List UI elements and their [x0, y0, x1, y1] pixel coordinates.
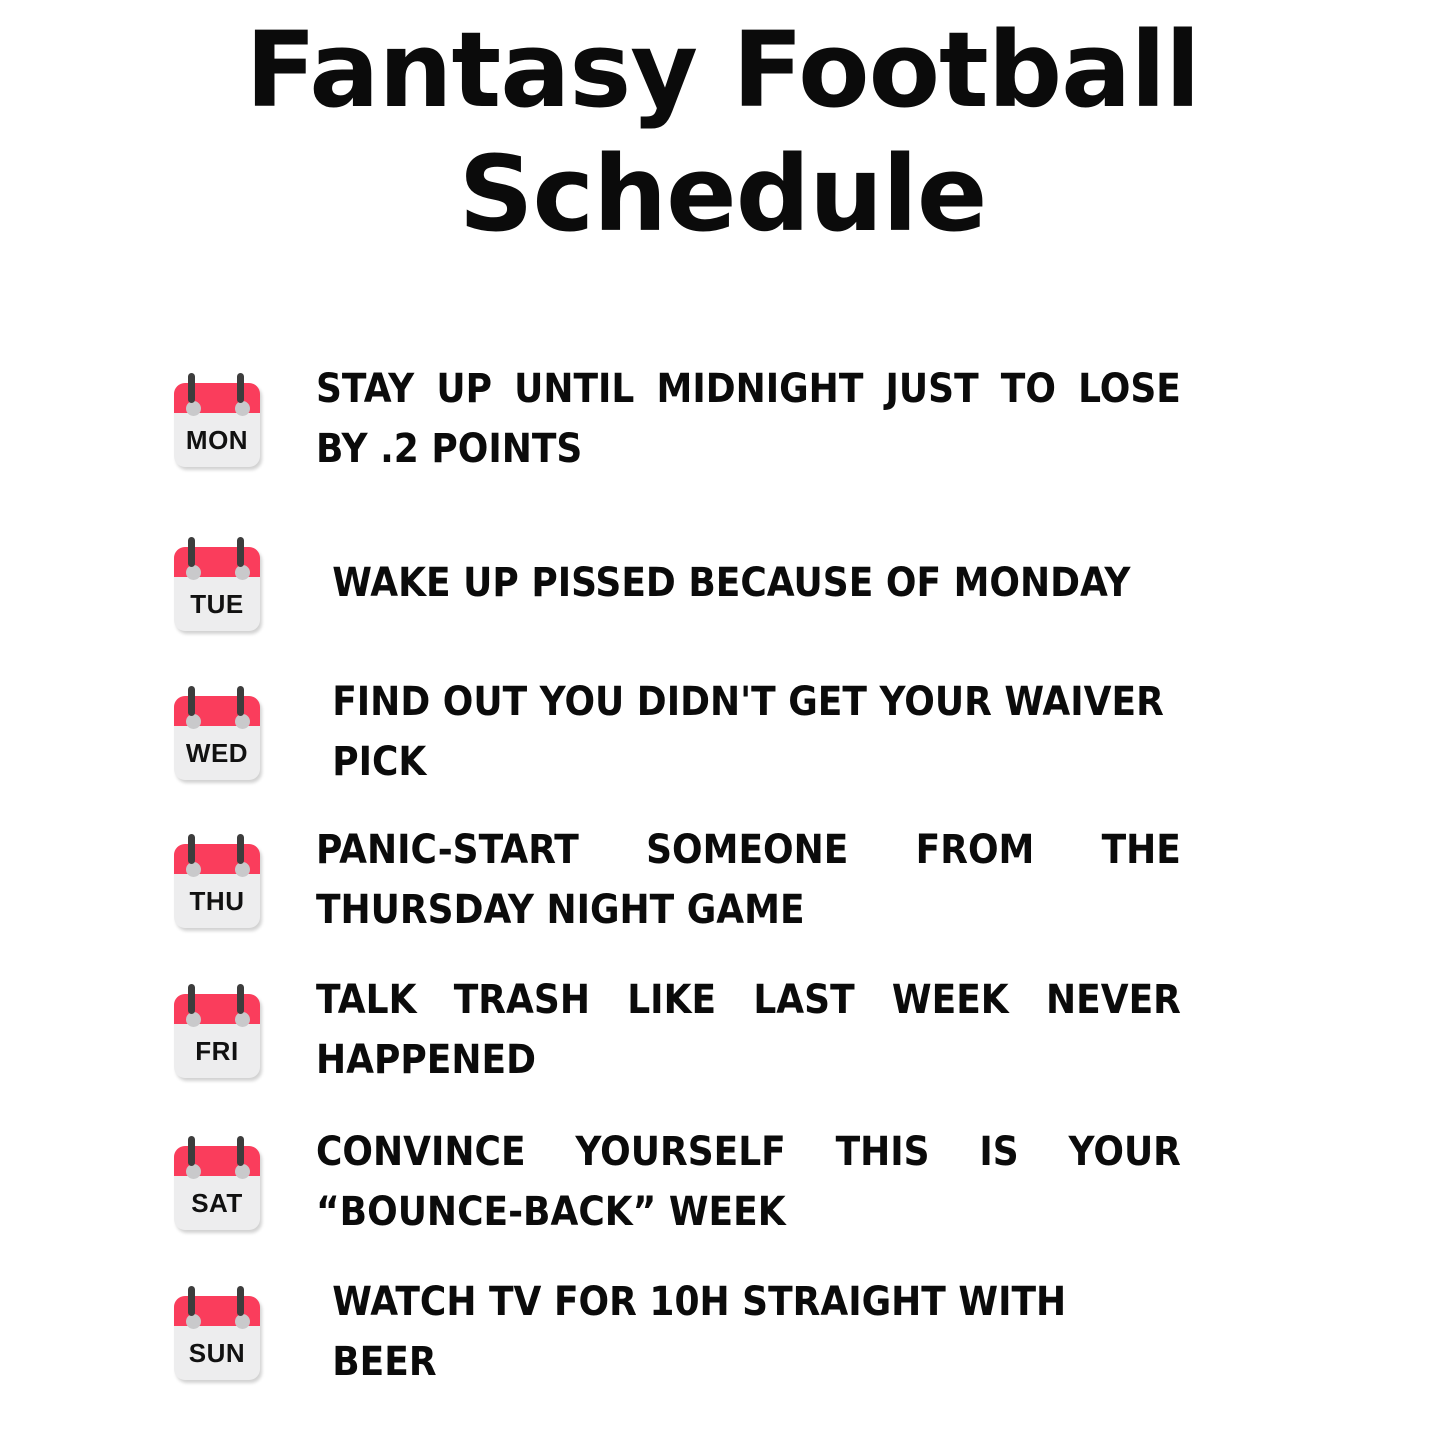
- calendar-icon-wed: WED: [172, 683, 262, 781]
- schedule-row-thu: THU Panic-start someone from the Thursda…: [0, 806, 1445, 954]
- calendar-icon-sat: SAT: [172, 1133, 262, 1231]
- schedule-row-sat: SAT Convince yourself this is your “boun…: [0, 1106, 1445, 1258]
- calendar-body: WED: [174, 696, 260, 780]
- task-text-thu: Panic-start someone from the Thursday ni…: [316, 820, 1181, 940]
- page-title-line-1: Fantasy Football: [0, 8, 1445, 132]
- calendar-pin-right-icon: [237, 834, 244, 864]
- calendar-pin-left-icon: [188, 537, 195, 567]
- calendar-ring-left-icon: [186, 565, 201, 580]
- calendar-ring-left-icon: [186, 1164, 201, 1179]
- calendar-pin-right-icon: [237, 1136, 244, 1166]
- task-text-fri: Talk trash like last week never happened: [316, 970, 1181, 1090]
- calendar-pin-left-icon: [188, 373, 195, 403]
- schedule-list: MON Stay up until midnight just to lose …: [0, 330, 1445, 1406]
- calendar-icon-mon: MON: [172, 370, 262, 468]
- calendar-day-label: TUE: [174, 577, 260, 631]
- task-text-mon: Stay up until midnight just to lose by .…: [316, 359, 1181, 479]
- calendar-ring-right-icon: [235, 1164, 250, 1179]
- calendar-pin-right-icon: [237, 686, 244, 716]
- calendar-icon-tue: TUE: [172, 534, 262, 632]
- calendar-icon-thu: THU: [172, 831, 262, 929]
- calendar-pin-left-icon: [188, 1136, 195, 1166]
- schedule-row-fri: FRI Talk trash like last week never happ…: [0, 954, 1445, 1106]
- calendar-ring-left-icon: [186, 1012, 201, 1027]
- calendar-ring-left-icon: [186, 401, 201, 416]
- calendar-icon-fri: FRI: [172, 981, 262, 1079]
- calendar-ring-right-icon: [235, 1012, 250, 1027]
- calendar-ring-right-icon: [235, 862, 250, 877]
- schedule-row-mon: MON Stay up until midnight just to lose …: [0, 330, 1445, 508]
- calendar-ring-right-icon: [235, 714, 250, 729]
- calendar-day-label: FRI: [174, 1024, 260, 1078]
- calendar-ring-right-icon: [235, 1314, 250, 1329]
- schedule-row-wed: WED Find out you didn't get your waiver …: [0, 658, 1445, 806]
- calendar-ring-left-icon: [186, 862, 201, 877]
- calendar-body: THU: [174, 844, 260, 928]
- task-text-sat: Convince yourself this is your “bounce-b…: [316, 1122, 1181, 1242]
- calendar-pin-left-icon: [188, 834, 195, 864]
- calendar-pin-right-icon: [237, 1286, 244, 1316]
- calendar-body: SAT: [174, 1146, 260, 1230]
- calendar-ring-right-icon: [235, 401, 250, 416]
- calendar-body: MON: [174, 383, 260, 467]
- calendar-pin-left-icon: [188, 1286, 195, 1316]
- schedule-poster: Fantasy Football Schedule MON Stay up un…: [0, 0, 1445, 1445]
- calendar-ring-left-icon: [186, 714, 201, 729]
- schedule-row-tue: TUE Wake up pissed because of Monday: [0, 508, 1445, 658]
- calendar-pin-right-icon: [237, 537, 244, 567]
- calendar-day-label: THU: [174, 874, 260, 928]
- calendar-day-label: WED: [174, 726, 260, 780]
- page-title: Fantasy Football Schedule: [0, 8, 1445, 256]
- calendar-pin-left-icon: [188, 984, 195, 1014]
- calendar-body: SUN: [174, 1296, 260, 1380]
- calendar-day-label: MON: [174, 413, 260, 467]
- calendar-pin-right-icon: [237, 984, 244, 1014]
- calendar-body: TUE: [174, 547, 260, 631]
- calendar-icon-sun: SUN: [172, 1283, 262, 1381]
- schedule-row-sun: SUN Watch TV for 10h straight with beer: [0, 1258, 1445, 1406]
- task-text-wed: Find out you didn't get your waiver pick: [316, 672, 1181, 792]
- task-text-sun: Watch TV for 10h straight with beer: [316, 1272, 1181, 1392]
- calendar-pin-right-icon: [237, 373, 244, 403]
- calendar-body: FRI: [174, 994, 260, 1078]
- calendar-day-label: SUN: [174, 1326, 260, 1380]
- calendar-pin-left-icon: [188, 686, 195, 716]
- calendar-ring-right-icon: [235, 565, 250, 580]
- page-title-line-2: Schedule: [0, 132, 1445, 256]
- task-text-tue: Wake up pissed because of Monday: [316, 553, 1181, 613]
- calendar-ring-left-icon: [186, 1314, 201, 1329]
- calendar-day-label: SAT: [174, 1176, 260, 1230]
